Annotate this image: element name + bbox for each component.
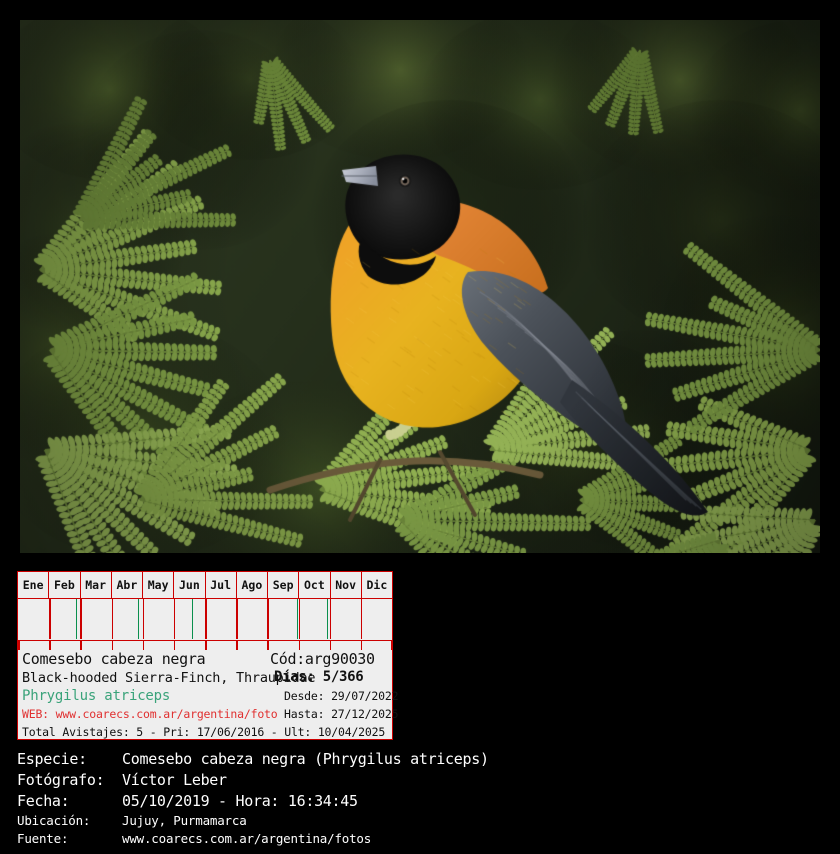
calendar-divider [174, 599, 176, 639]
calendar-divider [236, 599, 238, 639]
caption-label-ubicacion: Ubicación: [17, 813, 122, 828]
calendar-month-jul: Jul [206, 572, 237, 598]
caption-label-especie: Especie: [17, 750, 122, 768]
caption-label-fecha: Fecha: [17, 792, 122, 810]
caption-value-especie: Comesebo cabeza negra (Phrygilus atricep… [122, 750, 489, 768]
bird-photo [20, 20, 820, 553]
caption-row-ubicacion: Ubicación: Jujuy, Purmamarca [17, 813, 827, 831]
calendar-month-grid [18, 599, 392, 639]
record-date-to: Hasta: 27/12/2025 [284, 707, 398, 721]
record-text-block: Comesebo cabeza negra Black-hooded Sierr… [18, 650, 392, 749]
record-date-from: Desde: 29/07/2022 [284, 689, 398, 703]
calendar-divider [205, 599, 207, 639]
sighting-mark [138, 599, 140, 639]
caption-row-fecha: Fecha: 05/10/2019 - Hora: 16:34:45 [17, 792, 827, 813]
calendar-tick [205, 641, 207, 650]
calendar-tick [361, 641, 363, 650]
calendar-tick [18, 641, 20, 650]
caption-label-fuente: Fuente: [17, 831, 122, 846]
calendar-tick [174, 641, 176, 650]
bird-photo-canvas [20, 20, 820, 553]
record-code: Cód:arg90030 [270, 650, 375, 668]
calendar-month-dic: Dic [362, 572, 392, 598]
calendar-divider [143, 599, 145, 639]
sighting-mark [327, 599, 329, 639]
caption-value-fuente[interactable]: www.coarecs.com.ar/argentina/fotos [122, 831, 371, 846]
calendar-tick [80, 641, 82, 650]
calendar-month-may: May [143, 572, 174, 598]
calendar-tick [330, 641, 332, 650]
calendar-tick [236, 641, 238, 650]
caption-label-fotografo: Fotógrafo: [17, 771, 122, 789]
sighting-mark [76, 599, 78, 639]
calendar-month-header: EneFebMarAbrMayJunJulAgoSepOctNovDic [18, 572, 392, 599]
calendar-tick-row [18, 641, 392, 650]
sighting-mark [297, 599, 299, 639]
calendar-divider [330, 599, 332, 639]
species-common-name: Comesebo cabeza negra [22, 650, 205, 668]
record-web-link[interactable]: WEB: www.coarecs.com.ar/argentina/foto [22, 707, 278, 721]
record-total-sightings: Total Avistajes: 5 - Pri: 17/06/2016 - U… [22, 725, 385, 739]
calendar-tick [112, 641, 114, 650]
calendar-divider [112, 599, 114, 639]
calendar-month-ene: Ene [18, 572, 49, 598]
calendar-month-jun: Jun [174, 572, 205, 598]
caption-value-ubicacion: Jujuy, Purmamarca [122, 813, 247, 828]
calendar-divider [267, 599, 269, 639]
calendar-month-sep: Sep [268, 572, 299, 598]
species-english-name: Black-hooded Sierra-Finch, Thraupidae [22, 670, 315, 686]
calendar-divider [299, 599, 301, 639]
calendar-tick [267, 641, 269, 650]
species-record-panel: EneFebMarAbrMayJunJulAgoSepOctNovDic Com… [17, 571, 393, 740]
caption-row-fotografo: Fotógrafo: Víctor Leber [17, 771, 827, 792]
calendar-tick [391, 641, 393, 650]
caption-row-especie: Especie: Comesebo cabeza negra (Phrygilu… [17, 750, 827, 771]
calendar-month-abr: Abr [112, 572, 143, 598]
calendar-month-oct: Oct [299, 572, 330, 598]
calendar-tick [299, 641, 301, 650]
calendar-divider [361, 599, 363, 639]
species-scientific-name: Phrygilus atriceps [22, 688, 170, 704]
calendar-tick [143, 641, 145, 650]
calendar-month-mar: Mar [81, 572, 112, 598]
caption-value-fotografo: Víctor Leber [122, 771, 227, 789]
caption-value-fecha: 05/10/2019 - Hora: 16:34:45 [122, 792, 358, 810]
calendar-tick [49, 641, 51, 650]
calendar-month-nov: Nov [331, 572, 362, 598]
caption-row-fuente: Fuente: www.coarecs.com.ar/argentina/fot… [17, 831, 827, 849]
calendar-divider [80, 599, 82, 639]
record-days-count: Días: 5/366 [274, 669, 363, 685]
photo-caption: Especie: Comesebo cabeza negra (Phrygilu… [17, 750, 827, 849]
calendar-month-ago: Ago [237, 572, 268, 598]
sighting-mark [192, 599, 194, 639]
calendar-divider [49, 599, 51, 639]
calendar-month-feb: Feb [49, 572, 80, 598]
sighting-calendar: EneFebMarAbrMayJunJulAgoSepOctNovDic [18, 572, 392, 641]
